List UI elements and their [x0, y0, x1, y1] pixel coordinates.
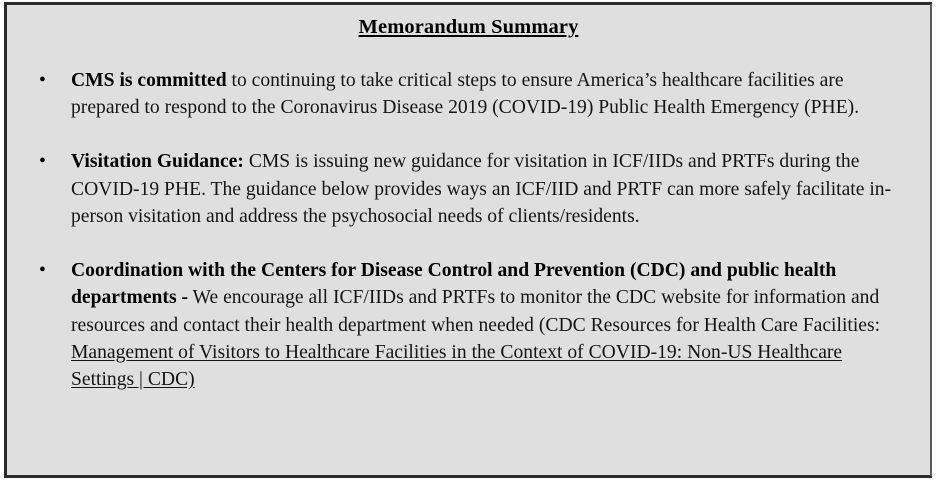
memorandum-summary-box: Memorandum Summary • CMS is committed to… — [4, 2, 932, 478]
memo-bullet-list: • CMS is committed to continuing to take… — [7, 67, 930, 394]
list-item-body: We encourage all ICF/IIDs and PRTFs to m… — [71, 287, 880, 335]
list-item-lead: Visitation Guidance: — [71, 151, 244, 172]
page-title: Memorandum Summary — [7, 15, 930, 41]
bullet-icon: • — [39, 67, 51, 94]
list-item: • Visitation Guidance: CMS is issuing ne… — [7, 148, 930, 230]
bullet-icon: • — [39, 148, 51, 175]
list-item: • CMS is committed to continuing to take… — [7, 67, 930, 122]
list-item: • Coordination with the Centers for Dise… — [7, 257, 930, 393]
list-item-lead: CMS is committed — [71, 70, 227, 91]
bullet-icon: • — [39, 257, 51, 284]
cdc-visitor-management-link[interactable]: Management of Visitors to Healthcare Fac… — [71, 342, 842, 390]
